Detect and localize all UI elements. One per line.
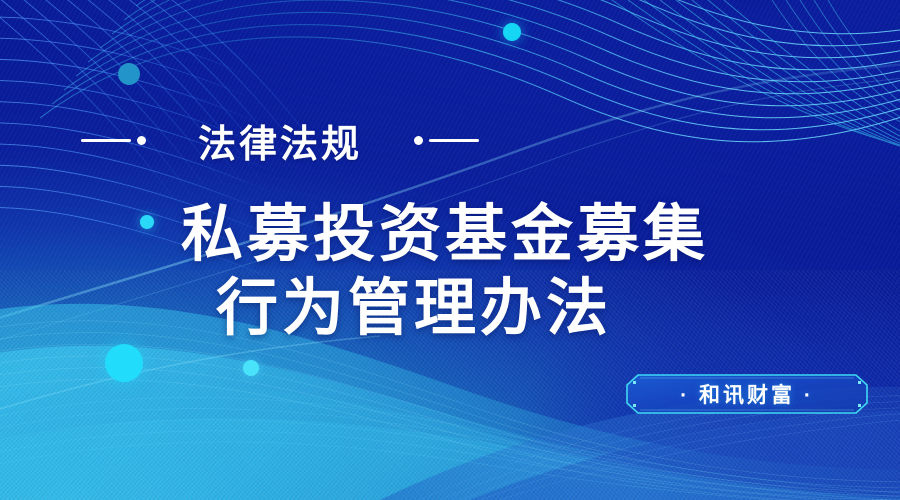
rule-line: [81, 139, 131, 142]
line-dot-rule-left-icon: [81, 136, 146, 145]
badge-label: · 和讯财富 ·: [626, 374, 868, 414]
subtitle-text: 法律法规: [198, 113, 362, 168]
banner-container: 法律法规 私募投资基金募集 行为管理办法: [0, 0, 900, 500]
cyan-circle-dot-tiny-icon: [243, 360, 259, 376]
cyan-circle-dot-large-icon: [105, 344, 143, 382]
cyan-circle-dot-small-icon: [140, 215, 154, 229]
subtitle-row: 法律法规: [0, 112, 560, 168]
rule-line: [429, 139, 479, 142]
cyan-circle-dot-icon: [503, 23, 521, 41]
line-dot-rule-right-icon: [414, 136, 479, 145]
rule-dot: [137, 136, 146, 145]
teal-circle-dot-icon: [118, 63, 140, 85]
rule-dot: [414, 136, 423, 145]
brand-badge: · 和讯财富 ·: [626, 374, 868, 414]
